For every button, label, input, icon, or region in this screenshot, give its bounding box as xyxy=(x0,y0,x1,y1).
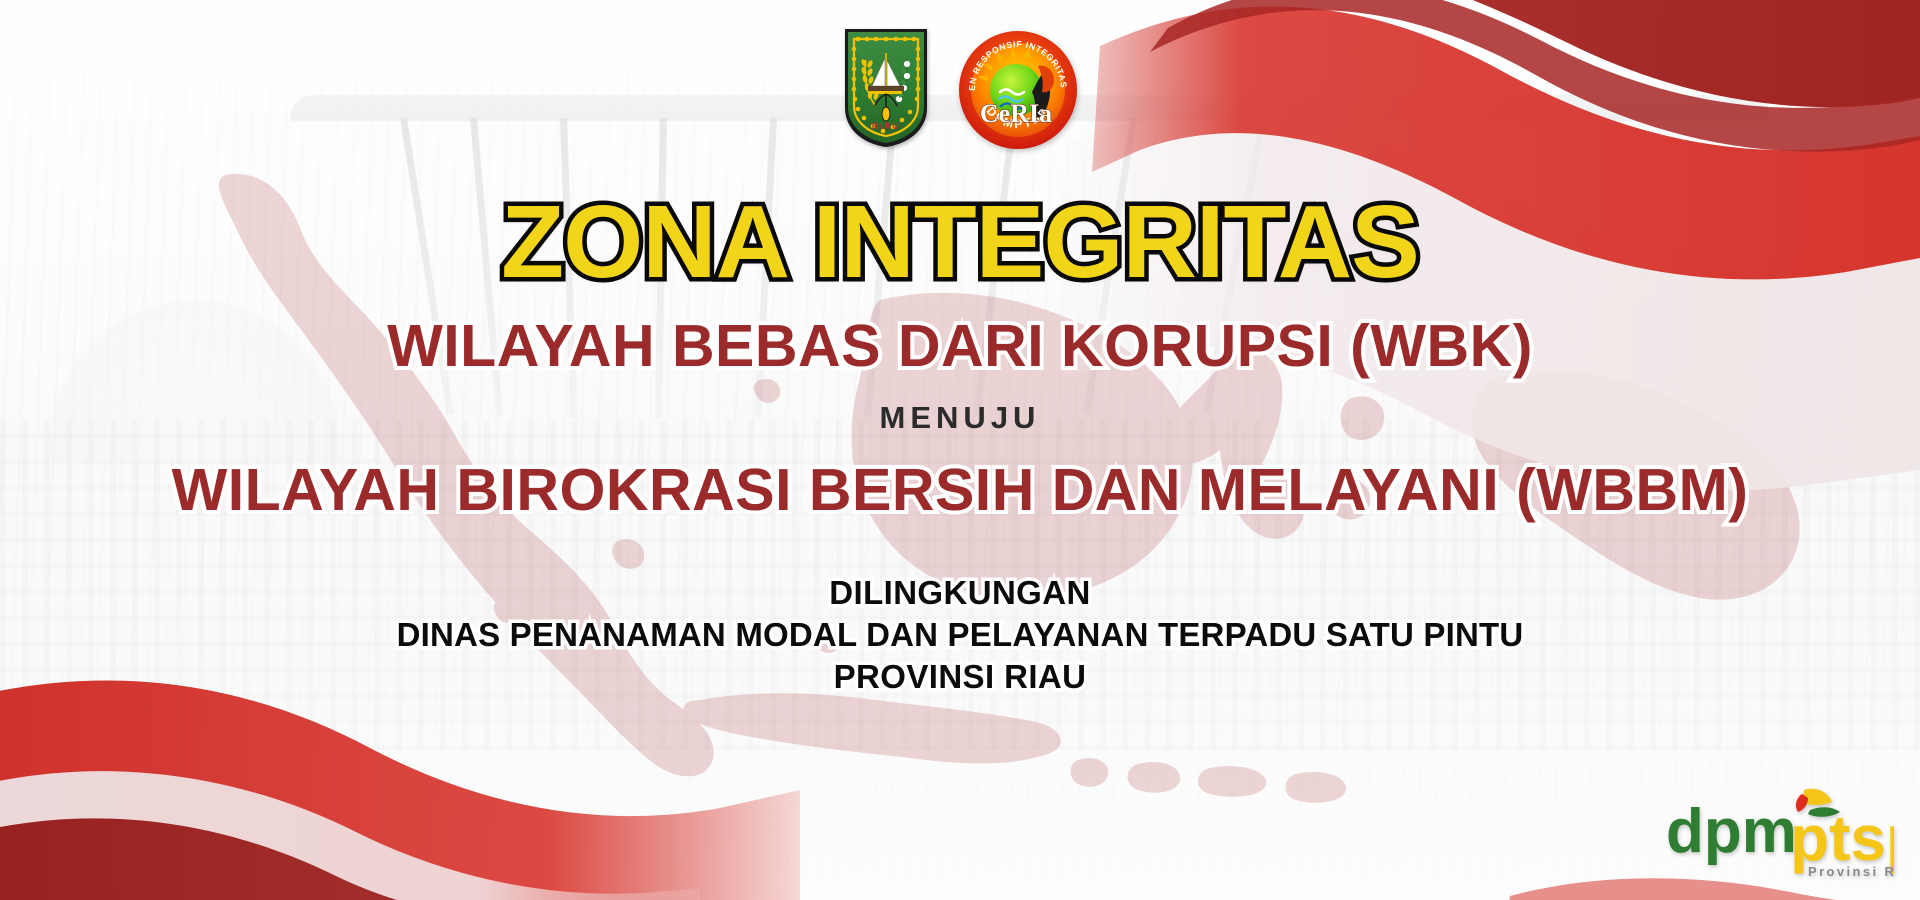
dpmptsp-tagline: Provinsi Riau xyxy=(1808,864,1894,879)
ceria-center-text: CeRIa xyxy=(980,99,1052,128)
riau-coat-of-arms-icon: RIAU xyxy=(842,26,930,150)
ceria-dpmptsp-logo-icon: CEPAT EFISIEN RESPONSIF INTEGRITAS AKUNT… xyxy=(958,30,1078,150)
logo-row: RIAU xyxy=(842,26,1078,166)
footer-block: DILINGKUNGAN DINAS PENANAMAN MODAL DAN P… xyxy=(397,572,1524,699)
footer-line-1: DILINGKUNGAN xyxy=(397,572,1524,614)
footer-line-3: PROVINSI RIAU xyxy=(397,656,1524,698)
zona-integritas-banner: RIAU xyxy=(0,0,1920,900)
connector-label: MENUJU xyxy=(880,402,1041,433)
dpmptsp-part-dpm: dpm xyxy=(1666,797,1797,866)
subtitle-wbbm: WILAYAH BIROKRASI BERSIH DAN MELAYANI (W… xyxy=(172,461,1749,520)
page-title: ZONA INTEGRITAS xyxy=(501,190,1419,293)
riau-emblem-caption: RIAU xyxy=(872,121,900,131)
subtitle-wbk: WILAYAH BEBAS DARI KORUPSI (WBK) xyxy=(387,317,1533,376)
banner-content: RIAU xyxy=(0,0,1920,900)
dpmptsp-wordmark-icon: dpm ptsp Provinsi Riau xyxy=(1658,772,1894,884)
footer-line-2: DINAS PENANAMAN MODAL DAN PELAYANAN TERP… xyxy=(397,614,1524,656)
